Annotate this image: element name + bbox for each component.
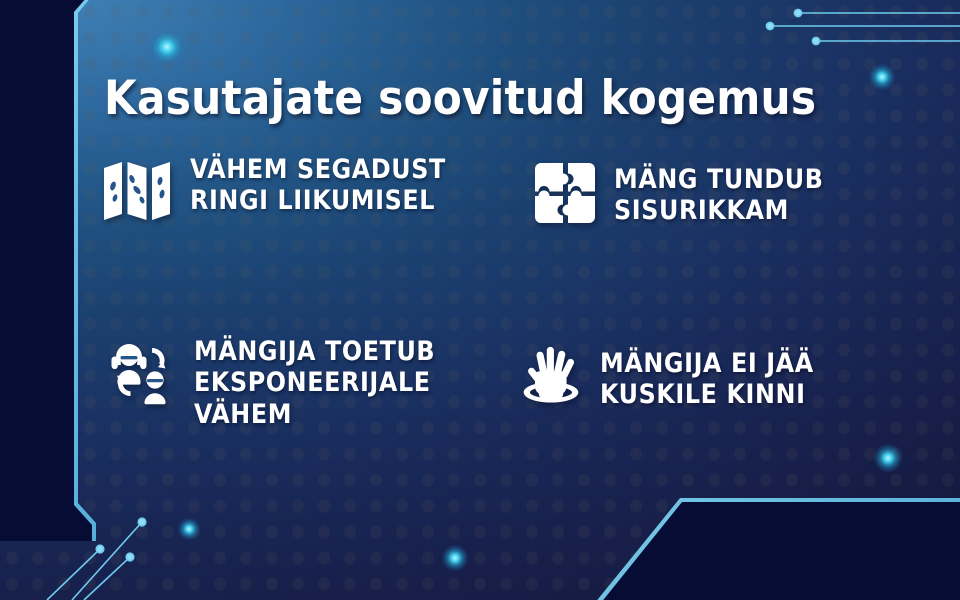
puzzle-pieces-icon (532, 160, 598, 226)
hand-in-quicksand-icon (518, 344, 584, 410)
feature-item: MÄNGIJA TOETUB EKSPONEERIJALE VÄHEM (104, 334, 514, 430)
feature-label: VÄHEM SEGADUST RINGI LIIKUMISEL (190, 152, 500, 217)
feature-label: MÄNGIJA EI JÄÄ KUSKILE KINNI (600, 344, 918, 411)
feature-item: VÄHEM SEGADUST RINGI LIIKUMISEL (100, 152, 500, 226)
feature-item: MÄNG TUNDUB SISURIKKAM (532, 160, 912, 227)
feature-label: MÄNGIJA TOETUB EKSPONEERIJALE VÄHEM (194, 334, 514, 430)
feature-item: MÄNGIJA EI JÄÄ KUSKILE KINNI (518, 344, 918, 411)
slide-canvas: Kasutajate soovitud kogemus (0, 0, 960, 600)
folded-map-icon (100, 152, 174, 226)
feature-grid: VÄHEM SEGADUST RINGI LIIKUMISEL MÄNG TUN… (100, 152, 900, 492)
slide-content: Kasutajate soovitud kogemus (0, 0, 960, 600)
feature-label: MÄNG TUNDUB SISURIKKAM (614, 160, 912, 227)
headset-support-exchange-icon (104, 334, 178, 408)
slide-title: Kasutajate soovitud kogemus (104, 74, 816, 123)
